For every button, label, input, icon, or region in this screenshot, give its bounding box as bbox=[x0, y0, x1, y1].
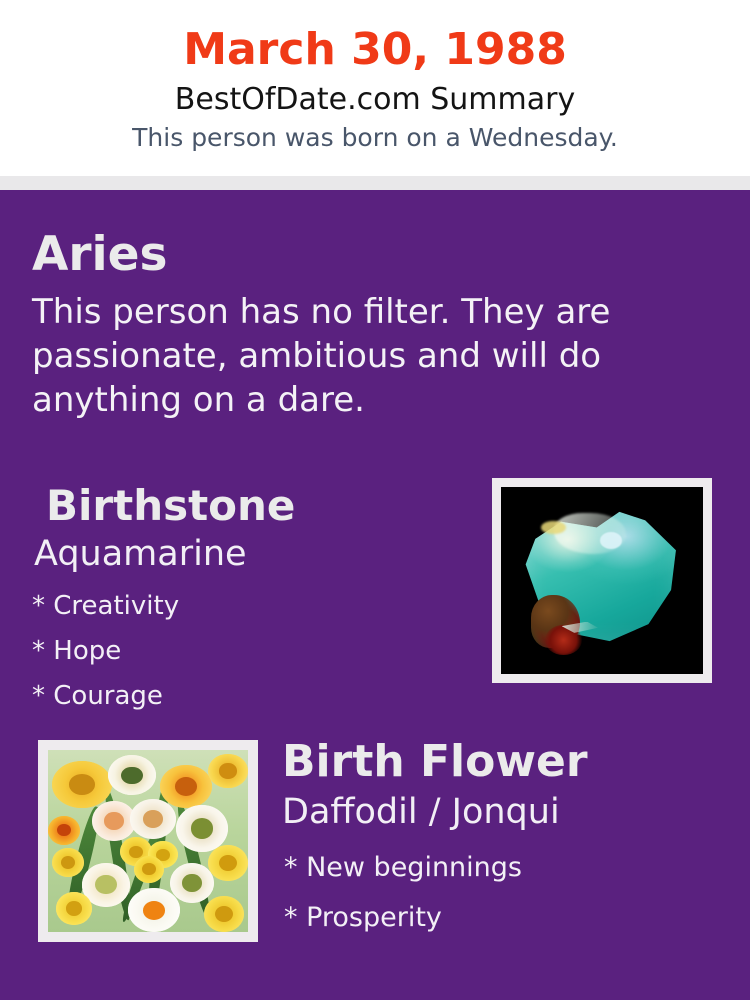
list-item: * Hope bbox=[32, 629, 462, 674]
flower-icon bbox=[128, 888, 180, 932]
list-item: * New beginnings bbox=[282, 843, 722, 893]
content-panel: Aries This person has no filter. They ar… bbox=[0, 190, 750, 1000]
flower-icon bbox=[208, 845, 248, 881]
birth-flower-title: Birth Flower bbox=[282, 735, 722, 789]
header-divider bbox=[0, 176, 750, 190]
crystal-glint bbox=[600, 532, 622, 549]
birth-flower-section: Birth Flower Daffodil / Jonqui * New beg… bbox=[282, 735, 722, 943]
flower-icon bbox=[176, 805, 228, 852]
birth-flower-name: Daffodil / Jonqui bbox=[282, 789, 722, 835]
birthstone-name: Aquamarine bbox=[32, 532, 462, 576]
zodiac-description: This person has no filter. They are pass… bbox=[32, 290, 657, 422]
birth-flower-trait-list: * New beginnings * Prosperity bbox=[282, 843, 722, 943]
birthstone-image-frame bbox=[492, 478, 712, 683]
birthstone-image bbox=[501, 487, 703, 674]
born-day-text: This person was born on a Wednesday. bbox=[0, 121, 750, 155]
page-title-date: March 30, 1988 bbox=[0, 22, 750, 78]
zodiac-sign-name: Aries bbox=[32, 226, 692, 284]
flower-icon bbox=[130, 799, 176, 839]
birth-flower-image bbox=[48, 750, 248, 932]
flower-icon bbox=[52, 761, 112, 808]
flower-icon bbox=[56, 892, 92, 925]
birthstone-trait-list: * Creativity * Hope * Courage bbox=[32, 584, 462, 719]
birthstone-section: Birthstone Aquamarine * Creativity * Hop… bbox=[32, 480, 462, 719]
list-item: * Creativity bbox=[32, 584, 462, 629]
birth-flower-image-frame bbox=[38, 740, 258, 942]
birthstone-title: Birthstone bbox=[32, 480, 462, 532]
flower-icon bbox=[160, 765, 212, 809]
flower-icon bbox=[170, 863, 214, 903]
zodiac-section: Aries This person has no filter. They ar… bbox=[32, 226, 692, 422]
flower-icon bbox=[108, 755, 156, 795]
site-summary-label: BestOfDate.com Summary bbox=[0, 80, 750, 120]
card-header: March 30, 1988 BestOfDate.com Summary Th… bbox=[0, 0, 750, 176]
summary-card: March 30, 1988 BestOfDate.com Summary Th… bbox=[0, 0, 750, 1000]
flower-icon bbox=[208, 754, 248, 789]
list-item: * Prosperity bbox=[282, 893, 722, 943]
flower-icon bbox=[134, 856, 164, 883]
flower-icon bbox=[48, 816, 80, 845]
flower-icon bbox=[204, 896, 244, 932]
list-item: * Courage bbox=[32, 674, 462, 719]
crystal-yellow-patch bbox=[541, 521, 565, 534]
